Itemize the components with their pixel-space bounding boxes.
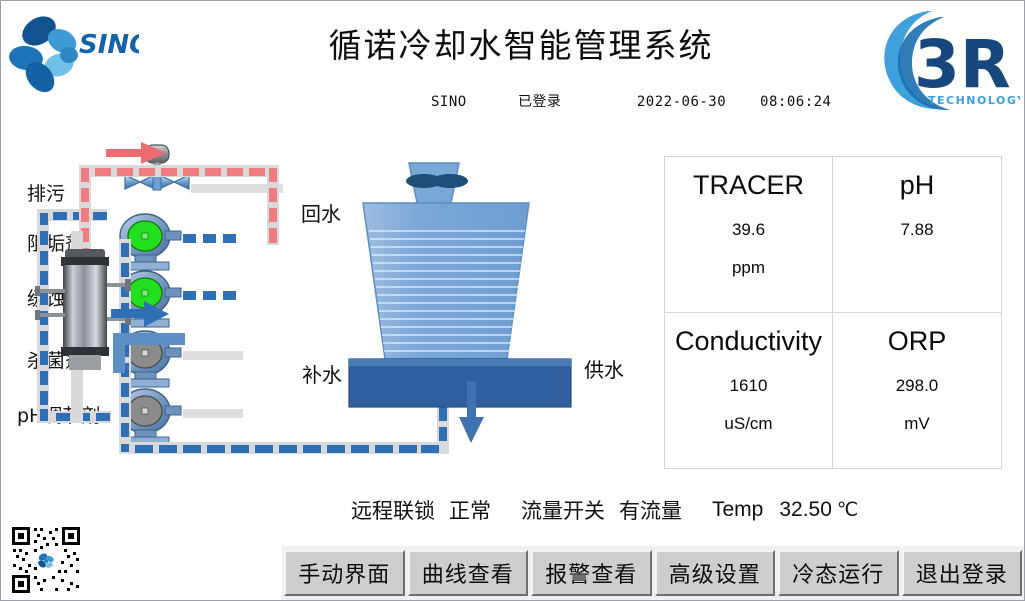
qr-code[interactable] (9, 524, 83, 596)
3r-tagline: TECHNOLOGY (928, 94, 1020, 107)
measurement-panel: TRACER 39.6 ppm pH 7.88 Conductivity 161… (664, 156, 1002, 469)
measurement-orp[interactable]: ORP 298.0 mV (833, 313, 1001, 469)
tracer-value: 39.6 (732, 220, 765, 240)
measurement-conductivity[interactable]: Conductivity 1610 uS/cm (665, 313, 833, 469)
temp-label: Temp (712, 498, 763, 522)
tracer-unit: ppm (732, 258, 765, 278)
measurement-tracer[interactable]: TRACER 39.6 ppm (665, 157, 833, 313)
conductivity-value: 1610 (730, 376, 768, 396)
advanced-settings-button[interactable]: 高级设置 (655, 550, 776, 596)
cooling-tower (349, 163, 571, 407)
page-title: 循诺冷却水智能管理系统 (291, 19, 751, 67)
ph-name: pH (900, 170, 935, 201)
trend-view-button[interactable]: 曲线查看 (408, 550, 529, 596)
label-return-water: 回水 (301, 198, 341, 227)
conductivity-name: Conductivity (675, 326, 822, 357)
tracer-name: TRACER (693, 170, 804, 201)
remote-interlock-label: 远程联锁 (351, 495, 435, 525)
session-date: 2022-06-30 (637, 94, 726, 110)
logout-button[interactable]: 退出登录 (902, 550, 1023, 596)
manual-screen-button[interactable]: 手动界面 (284, 550, 405, 596)
orp-name: ORP (888, 326, 947, 357)
3r-technology-logo: 3R TECHNOLOGY (870, 3, 1020, 113)
measurement-ph[interactable]: pH 7.88 (833, 157, 1001, 313)
command-button-bar: 手动界面 曲线查看 报警查看 高级设置 冷态运行 退出登录 (282, 546, 1024, 600)
remote-interlock-value: 正常 (449, 495, 491, 525)
session-state: 已登录 (518, 91, 628, 111)
sino-logo: SINO (9, 13, 139, 99)
temp-value: 32.50 (779, 498, 832, 522)
label-makeup-water: 补水 (302, 359, 342, 388)
conductivity-unit: uS/cm (724, 414, 772, 434)
qr-center-logo (37, 551, 56, 570)
temp-unit: ℃ (837, 499, 858, 522)
hmi-screen: SINO 循诺冷却水智能管理系统 SINO 已登录 2022-06-30 08:… (0, 0, 1025, 601)
status-row: 远程联锁 正常 流量开关 有流量 Temp 32.50 ℃ (351, 494, 1011, 526)
alarm-view-button[interactable]: 报警查看 (531, 550, 652, 596)
flow-switch-value: 有流量 (619, 495, 682, 525)
cold-start-button[interactable]: 冷态运行 (778, 550, 899, 596)
session-time: 08:06:24 (760, 94, 831, 110)
cooling-tower-diagram (1, 131, 661, 481)
session-user: SINO (431, 94, 509, 110)
session-status: SINO 已登录 2022-06-30 08:06:24 (431, 91, 831, 111)
return-flow-arrow (106, 142, 166, 164)
ph-value: 7.88 (900, 220, 933, 240)
3r-wordmark: 3R (914, 26, 1011, 103)
flow-switch-label: 流量开关 (521, 495, 605, 525)
sino-wordmark: SINO (79, 30, 139, 60)
orp-value: 298.0 (896, 376, 939, 396)
label-supply-water: 供水 (584, 354, 624, 383)
orp-unit: mV (904, 414, 930, 434)
